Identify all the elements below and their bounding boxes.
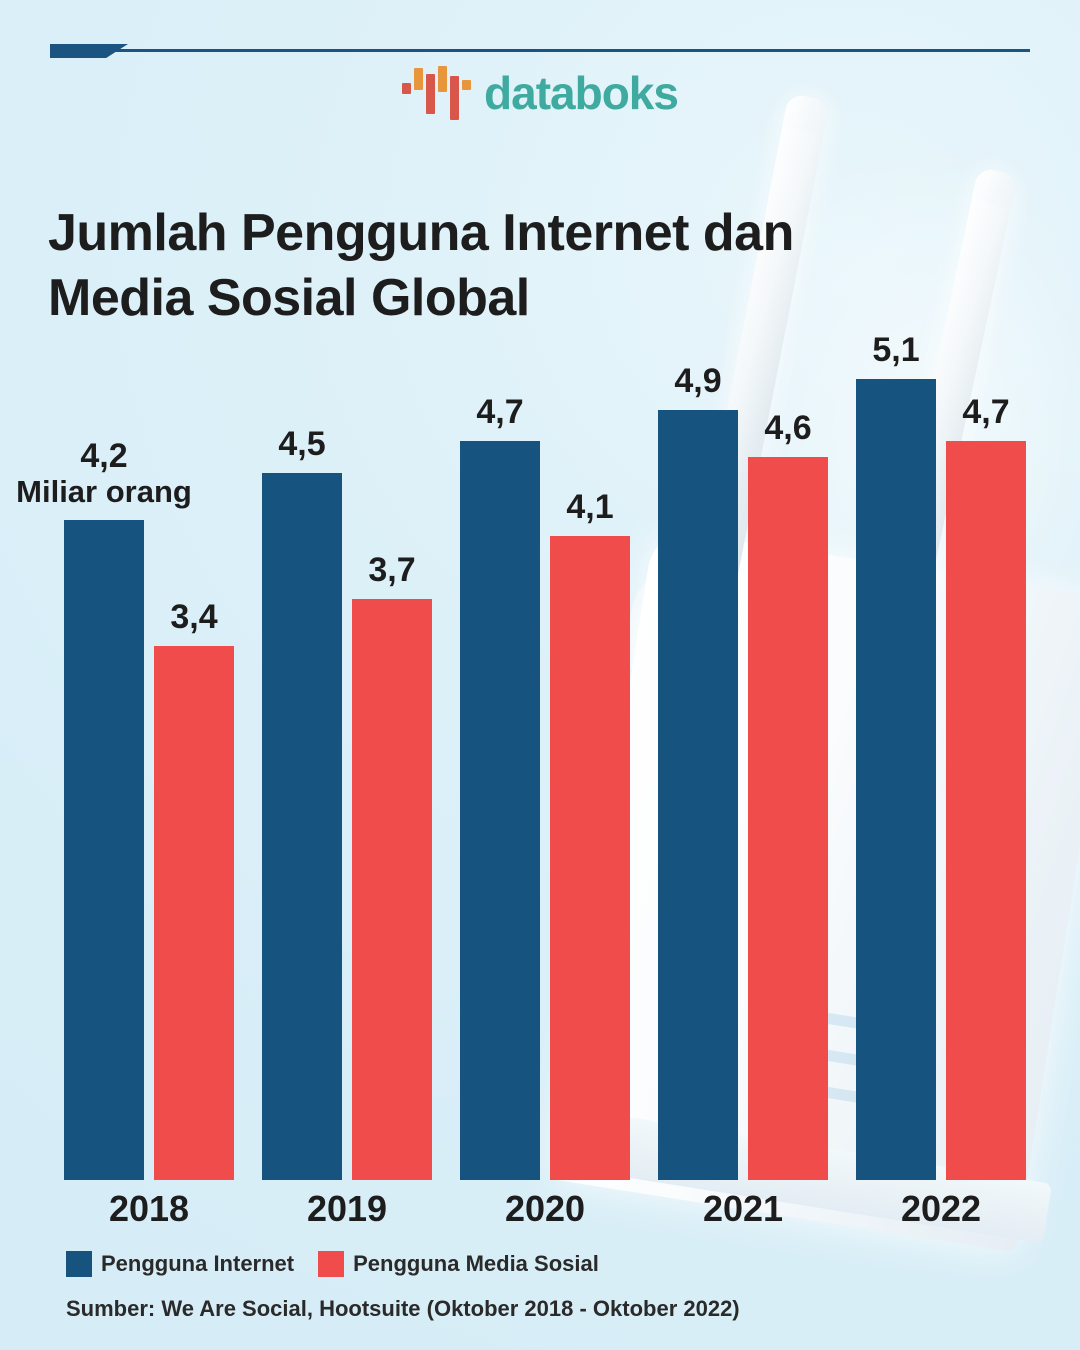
legend-swatch (318, 1251, 344, 1277)
bar-value-label: 4,1 (566, 488, 613, 526)
bar-internet-2019: 4,5 (262, 473, 342, 1180)
chart-x-axis-labels: 20182019202020212022 (48, 1188, 1038, 1238)
x-axis-label-2021: 2021 (703, 1188, 783, 1230)
legend-label: Pengguna Internet (101, 1251, 294, 1277)
bar-group-2020: 4,74,1 (460, 300, 630, 1180)
legend-label: Pengguna Media Sosial (353, 1251, 599, 1277)
legend-item: Pengguna Internet (66, 1251, 294, 1277)
x-axis-label-2022: 2022 (901, 1188, 981, 1230)
chart-plot-area: 4,2Miliar orang3,44,53,74,74,14,94,65,14… (48, 300, 1038, 1180)
bar-value-label: 5,1 (872, 331, 919, 369)
bar-social-2019: 3,7 (352, 599, 432, 1180)
x-axis-label-2020: 2020 (505, 1188, 585, 1230)
bar-group-2021: 4,94,6 (658, 300, 828, 1180)
bar-internet-2021: 4,9 (658, 410, 738, 1180)
x-axis-label-2018: 2018 (109, 1188, 189, 1230)
source-note: Sumber: We Are Social, Hootsuite (Oktobe… (66, 1296, 740, 1322)
bar-value-label: 4,9 (674, 362, 721, 400)
bar-social-2020: 4,1 (550, 536, 630, 1180)
bar-value-label: 4,7 (962, 393, 1009, 431)
bar-value-unit: Miliar orang (16, 475, 192, 510)
bar-internet-2020: 4,7 (460, 441, 540, 1180)
bar-value-label: 4,7 (476, 393, 523, 431)
bar-social-2018: 3,4 (154, 646, 234, 1180)
bar-value-label: 4,6 (764, 409, 811, 447)
bar-chart: 4,2Miliar orang3,44,53,74,74,14,94,65,14… (0, 0, 1080, 1350)
bar-value-label: 3,4 (170, 598, 217, 636)
bar-social-2022: 4,7 (946, 441, 1026, 1180)
legend-swatch (66, 1251, 92, 1277)
bar-value-label: 3,7 (368, 551, 415, 589)
legend-item: Pengguna Media Sosial (318, 1251, 599, 1277)
bar-social-2021: 4,6 (748, 457, 828, 1180)
bar-internet-2022: 5,1 (856, 379, 936, 1180)
bar-group-2022: 5,14,7 (856, 300, 1026, 1180)
x-axis-label-2019: 2019 (307, 1188, 387, 1230)
chart-legend: Pengguna InternetPengguna Media Sosial (66, 1251, 613, 1277)
bar-group-2019: 4,53,7 (262, 300, 432, 1180)
bar-group-2018: 4,2Miliar orang3,4 (64, 300, 234, 1180)
bar-internet-2018: 4,2Miliar orang (64, 520, 144, 1180)
bar-value-label: 4,5 (278, 425, 325, 463)
bar-value-label: 4,2Miliar orang (16, 437, 192, 510)
